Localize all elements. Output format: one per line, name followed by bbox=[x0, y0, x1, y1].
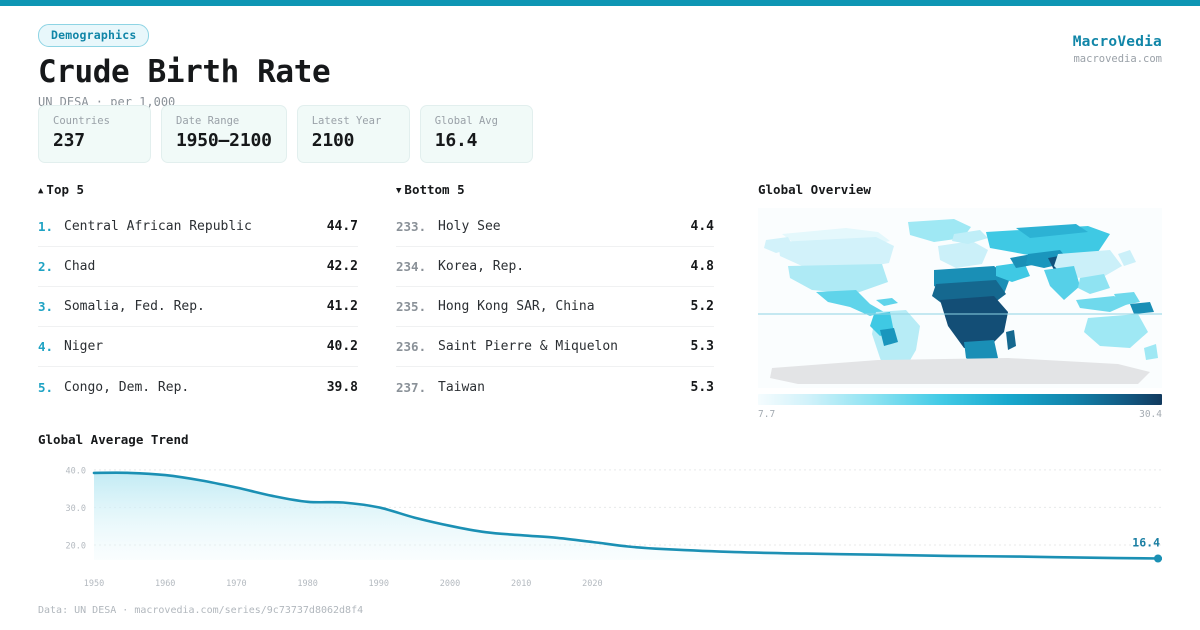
rank-value: 5.3 bbox=[691, 339, 714, 354]
trend-chart-svg: 40.030.020.0 16.4 1950196019701980199020… bbox=[38, 456, 1162, 596]
map-legend: 7.7 30.4 bbox=[758, 394, 1162, 420]
stat-chip-date-range: Date Range 1950–2100 bbox=[161, 105, 287, 163]
footer-source: Data: UN DESA · macrovedia.com/series/9c… bbox=[38, 605, 363, 616]
svg-text:2000: 2000 bbox=[440, 579, 460, 589]
country-name: Hong Kong SAR, China bbox=[438, 299, 691, 314]
stat-chips: Countries 237 Date Range 1950–2100 Lates… bbox=[38, 105, 533, 163]
rank-number: 236. bbox=[396, 339, 438, 354]
rank-value: 41.2 bbox=[327, 299, 358, 314]
svg-text:2020: 2020 bbox=[582, 579, 602, 589]
legend-max-label: 30.4 bbox=[1139, 409, 1162, 420]
svg-text:20.0: 20.0 bbox=[66, 541, 86, 551]
svg-text:1960: 1960 bbox=[155, 579, 175, 589]
rank-value: 5.2 bbox=[691, 299, 714, 314]
stat-label: Date Range bbox=[176, 115, 272, 127]
table-row: 5. Congo, Dem. Rep. 39.8 bbox=[38, 367, 358, 407]
triangle-down-icon: ▼ bbox=[396, 186, 401, 196]
chart-x-ticks: 19501960197019801990200020102020 bbox=[84, 579, 603, 589]
stat-label: Global Avg bbox=[435, 115, 518, 127]
country-name: Korea, Rep. bbox=[438, 259, 691, 274]
table-row: 233. Holy See 4.4 bbox=[396, 207, 714, 247]
country-name: Saint Pierre & Miquelon bbox=[438, 339, 691, 354]
table-row: 1. Central African Republic 44.7 bbox=[38, 207, 358, 247]
rank-number: 234. bbox=[396, 259, 438, 274]
page-header: Demographics Crude Birth Rate UN DESA · … bbox=[38, 24, 330, 109]
rank-value: 44.7 bbox=[327, 219, 358, 234]
legend-min-label: 7.7 bbox=[758, 409, 775, 420]
rank-number: 2. bbox=[38, 259, 64, 274]
bottom5-section: ▼Bottom 5 233. Holy See 4.4 234. Korea, … bbox=[396, 182, 714, 407]
rank-value: 4.8 bbox=[691, 259, 714, 274]
stat-label: Countries bbox=[53, 115, 136, 127]
table-row: 237. Taiwan 5.3 bbox=[396, 367, 714, 407]
rank-value: 39.8 bbox=[327, 380, 358, 395]
country-name: Central African Republic bbox=[64, 219, 327, 234]
table-row: 236. Saint Pierre & Miquelon 5.3 bbox=[396, 327, 714, 367]
table-row: 4. Niger 40.2 bbox=[38, 327, 358, 367]
trend-section: Global Average Trend 40.030.020.0 16.4 1… bbox=[38, 432, 1162, 596]
chart-end-point bbox=[1154, 554, 1162, 562]
country-name: Taiwan bbox=[438, 380, 691, 395]
svg-text:40.0: 40.0 bbox=[66, 466, 86, 476]
table-row: 2. Chad 42.2 bbox=[38, 247, 358, 287]
rank-number: 233. bbox=[396, 219, 438, 234]
infographic-page: Demographics Crude Birth Rate UN DESA · … bbox=[0, 0, 1200, 630]
map-svg bbox=[758, 208, 1162, 388]
country-name: Congo, Dem. Rep. bbox=[64, 380, 327, 395]
svg-text:1980: 1980 bbox=[297, 579, 317, 589]
category-badge: Demographics bbox=[38, 24, 149, 47]
trend-chart: 40.030.020.0 16.4 1950196019701980199020… bbox=[38, 456, 1162, 596]
rank-number: 3. bbox=[38, 299, 64, 314]
triangle-up-icon: ▲ bbox=[38, 186, 43, 196]
top5-heading: ▲Top 5 bbox=[38, 182, 358, 197]
brand-url: macrovedia.com bbox=[1073, 53, 1162, 65]
stat-chip-global-avg: Global Avg 16.4 bbox=[420, 105, 533, 163]
map-title: Global Overview bbox=[758, 182, 1162, 197]
world-choropleth-map bbox=[758, 208, 1162, 388]
svg-text:1990: 1990 bbox=[369, 579, 389, 589]
top-accent-bar bbox=[0, 0, 1200, 6]
page-title: Crude Birth Rate bbox=[38, 54, 330, 90]
rank-number: 4. bbox=[38, 339, 64, 354]
stat-value: 2100 bbox=[312, 130, 395, 151]
rank-number: 237. bbox=[396, 380, 438, 395]
rank-number: 5. bbox=[38, 380, 64, 395]
table-row: 3. Somalia, Fed. Rep. 41.2 bbox=[38, 287, 358, 327]
country-name: Somalia, Fed. Rep. bbox=[64, 299, 327, 314]
table-row: 235. Hong Kong SAR, China 5.2 bbox=[396, 287, 714, 327]
table-row: 234. Korea, Rep. 4.8 bbox=[396, 247, 714, 287]
country-name: Holy See bbox=[438, 219, 691, 234]
stat-value: 1950–2100 bbox=[176, 130, 272, 151]
country-name: Chad bbox=[64, 259, 327, 274]
legend-scale: 7.7 30.4 bbox=[758, 409, 1162, 420]
country-name: Niger bbox=[64, 339, 327, 354]
rank-value: 4.4 bbox=[691, 219, 714, 234]
stat-chip-latest-year: Latest Year 2100 bbox=[297, 105, 410, 163]
bottom5-heading-label: Bottom 5 bbox=[404, 182, 464, 197]
stat-value: 237 bbox=[53, 130, 136, 151]
global-overview-section: Global Overview bbox=[758, 182, 1162, 420]
stat-value: 16.4 bbox=[435, 130, 518, 151]
svg-text:2010: 2010 bbox=[511, 579, 531, 589]
svg-text:30.0: 30.0 bbox=[66, 504, 86, 514]
stat-chip-countries: Countries 237 bbox=[38, 105, 151, 163]
stat-label: Latest Year bbox=[312, 115, 395, 127]
rank-value: 5.3 bbox=[691, 380, 714, 395]
trend-title: Global Average Trend bbox=[38, 432, 1162, 447]
rank-value: 40.2 bbox=[327, 339, 358, 354]
svg-text:1950: 1950 bbox=[84, 579, 104, 589]
svg-text:1970: 1970 bbox=[226, 579, 246, 589]
chart-end-label: 16.4 bbox=[1132, 535, 1160, 549]
top5-heading-label: Top 5 bbox=[46, 182, 84, 197]
top5-section: ▲Top 5 1. Central African Republic 44.7 … bbox=[38, 182, 358, 407]
chart-y-ticks: 40.030.020.0 bbox=[66, 466, 86, 551]
rank-number: 235. bbox=[396, 299, 438, 314]
bottom5-heading: ▼Bottom 5 bbox=[396, 182, 714, 197]
rank-value: 42.2 bbox=[327, 259, 358, 274]
brand: MacroVedia macrovedia.com bbox=[1073, 34, 1162, 65]
legend-gradient-bar bbox=[758, 394, 1162, 405]
rank-number: 1. bbox=[38, 219, 64, 234]
brand-name: MacroVedia bbox=[1073, 34, 1162, 50]
